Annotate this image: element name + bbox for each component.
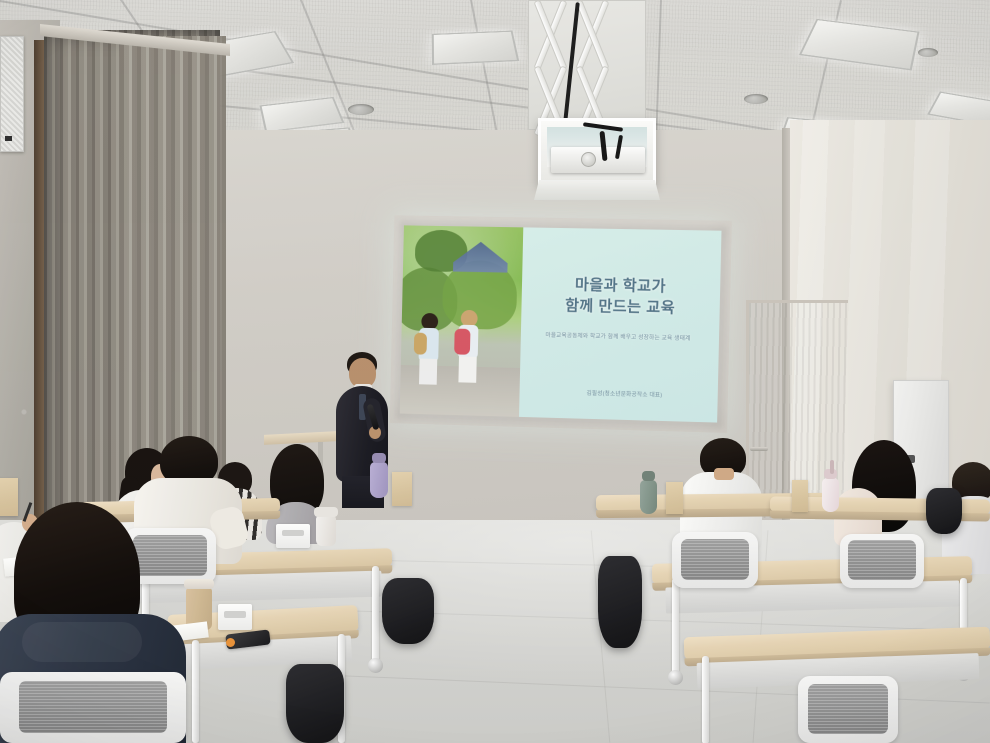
chair-mesh: [19, 681, 168, 734]
chair-mesh: [808, 684, 888, 734]
desk-caster: [668, 670, 683, 685]
desk-leg: [372, 566, 379, 662]
backpack-hanging-right: [926, 488, 962, 534]
ceiling-vent: [918, 48, 938, 57]
chair-mid-right[interactable]: [672, 532, 758, 588]
tissue-slot: [224, 611, 246, 618]
tumbler-pink: [822, 478, 839, 512]
slide-title: 마을과 학교가 함께 만드는 교육: [531, 273, 711, 320]
tumbler-cap: [372, 453, 386, 463]
photo-child-right: [455, 309, 484, 385]
tissue-slot: [282, 530, 304, 536]
paper-bag-front: [392, 472, 412, 506]
coffee-cup-upper-left: [316, 516, 336, 546]
chair-right-back[interactable]: [840, 534, 924, 588]
slide-subtitle: 마을교육공동체와 학교가 함께 배우고 성장하는 교육 생태계: [521, 332, 716, 344]
tumbler-cap: [642, 471, 655, 481]
backpack-floor-right: [598, 556, 642, 648]
slide-photo: [400, 225, 523, 417]
speaker-indicator: [5, 136, 12, 141]
tissue-box-front: [218, 604, 252, 630]
tumbler-lavender: [370, 462, 388, 498]
ceiling-light-panel: [432, 31, 519, 65]
person-neck: [714, 468, 734, 480]
wall-speaker: [0, 36, 24, 152]
cup-lid: [314, 507, 338, 517]
cup-body: [316, 516, 336, 546]
projector-lens: [581, 152, 596, 167]
desk-caster: [368, 658, 383, 673]
phone-accent: [226, 638, 235, 647]
photo-backpack: [414, 332, 427, 354]
projection-screen: 마을과 학교가 함께 만드는 교육 마을교육공동체와 학교가 함께 배우고 성장…: [400, 225, 722, 422]
desk-leg: [702, 656, 709, 743]
ceiling-vent: [348, 104, 374, 115]
photo-child-left: [417, 312, 444, 384]
tumbler-straw: [830, 460, 834, 474]
lecture-room-photo: 마을과 학교가 함께 만드는 교육 마을교육공동체와 학교가 함께 배우고 성장…: [0, 0, 990, 743]
person-shoulder-highlight: [22, 622, 142, 662]
chair-front-left[interactable]: [0, 672, 186, 743]
projector-mount-lip: [534, 180, 660, 200]
presenter: [330, 352, 400, 502]
chair-front-right[interactable]: [798, 676, 898, 743]
tumbler-sage-green: [640, 480, 657, 514]
chair-mesh: [681, 539, 750, 580]
paper-bag: [792, 480, 808, 512]
paper-bag: [666, 482, 683, 514]
desk-leg: [672, 578, 679, 674]
chair-mesh: [848, 540, 915, 580]
ceiling-vent: [744, 94, 768, 104]
slide-content: 마을과 학교가 함께 만드는 교육 마을교육공동체와 학교가 함께 배우고 성장…: [400, 225, 722, 422]
tissue-box-left: [276, 524, 310, 548]
backpack-hanging-left: [286, 664, 344, 743]
backpack-floor-left: [382, 578, 434, 644]
slide-author: 김필성(청소년문화공작소 대표): [538, 387, 711, 400]
projector-unit: [551, 147, 645, 173]
slide-title-line-2: 함께 만드는 교육: [531, 294, 711, 319]
photo-backpack-red: [454, 328, 470, 354]
projector-housing: [538, 118, 656, 186]
